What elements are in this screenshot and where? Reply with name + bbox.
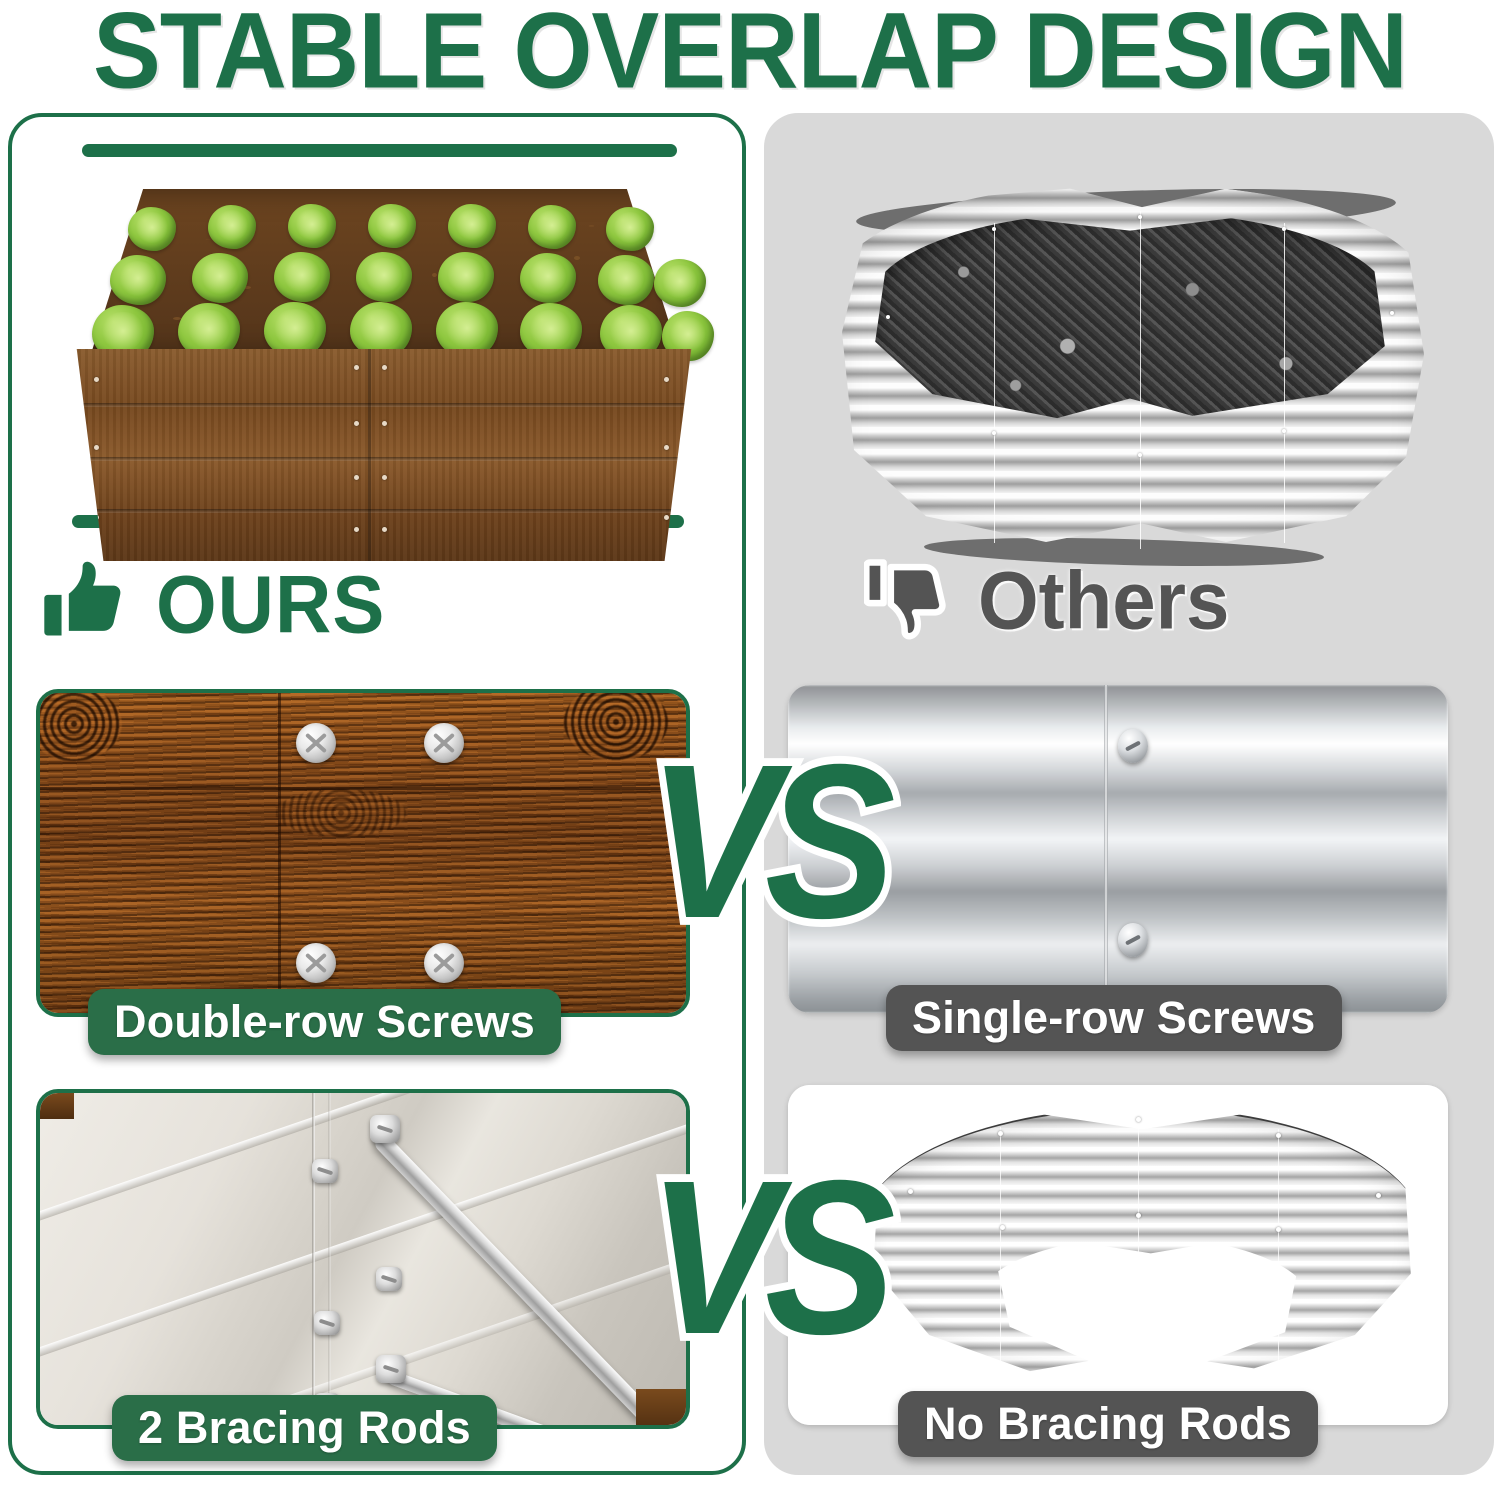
lettuce-plant xyxy=(356,252,412,302)
panel-seam xyxy=(1140,211,1141,549)
versus-badge-rods: VS xyxy=(648,1148,881,1368)
lettuce-plant xyxy=(448,204,496,248)
lettuce-plant xyxy=(208,205,256,249)
bracing-bolt xyxy=(370,1115,400,1143)
rivet xyxy=(1136,1213,1141,1218)
rivet xyxy=(1136,1117,1141,1122)
ours-brand-row: OURS xyxy=(42,555,385,652)
double-row-screws-badge: Double-row Screws xyxy=(88,989,561,1055)
rivet xyxy=(1138,215,1142,219)
bracing-bolt xyxy=(314,1311,340,1335)
screw-head xyxy=(1118,729,1148,763)
screw-head xyxy=(296,723,336,763)
others-label: Others xyxy=(978,559,1229,641)
single-row-screws-card xyxy=(788,685,1448,1013)
galvanized-metal-texture xyxy=(788,685,1448,1013)
panel-seam xyxy=(1278,1129,1279,1377)
panel-vertical-seam xyxy=(312,1093,315,1429)
lettuce-plant xyxy=(128,207,176,251)
board-seam-vertical xyxy=(278,693,281,1013)
bracing-rods-badge: 2 Bracing Rods xyxy=(112,1395,497,1461)
lettuce-plant xyxy=(598,255,654,305)
panel-seam xyxy=(1000,1127,1001,1377)
lettuce-plant xyxy=(438,252,494,302)
rivet xyxy=(886,315,890,319)
ours-hero-image xyxy=(38,175,728,575)
wood-edge xyxy=(636,1389,690,1429)
double-row-screws-card xyxy=(36,689,690,1017)
board-seam-horizontal xyxy=(40,787,686,790)
wood-edge xyxy=(40,1093,74,1119)
panel-seam xyxy=(994,223,995,543)
rivet xyxy=(1276,1133,1281,1138)
thumbs-down-icon xyxy=(864,551,956,648)
lettuce-plant xyxy=(192,253,248,303)
raised-garden-bed xyxy=(50,189,718,561)
rivet xyxy=(908,1189,913,1194)
ours-label: OURS xyxy=(156,563,385,645)
bed-wall-wood xyxy=(50,349,718,561)
empty-ring-background xyxy=(788,1085,1448,1425)
metal-vertical-seam xyxy=(1104,685,1108,1013)
page-title: STABLE OVERLAP DESIGN xyxy=(0,0,1500,113)
rivet xyxy=(998,1131,1003,1136)
ours-panel: OURS Double-row Screws xyxy=(8,113,746,1475)
panel-vertical-seam xyxy=(328,1093,331,1429)
lettuce-plant xyxy=(368,204,416,248)
thumbs-up-icon xyxy=(42,555,134,652)
screw-head xyxy=(424,943,464,983)
rivet xyxy=(992,227,996,231)
lettuce-plant xyxy=(274,252,330,302)
board-seam-horizontal xyxy=(40,917,686,919)
rivet xyxy=(1000,1225,1005,1230)
panel-seam xyxy=(1138,1115,1139,1383)
panel-seam xyxy=(1284,223,1285,543)
soil-fill xyxy=(870,211,1390,429)
lettuce-plant xyxy=(654,259,706,307)
lettuce-plant xyxy=(110,255,166,305)
infographic-root: STABLE OVERLAP DESIGN xyxy=(0,0,1500,1494)
others-hero-image xyxy=(794,165,1466,583)
screw-head xyxy=(424,723,464,763)
divider-bar-top xyxy=(82,144,677,157)
rivet xyxy=(1282,429,1286,433)
bracing-rods-card xyxy=(36,1089,690,1429)
screw-head xyxy=(296,943,336,983)
lettuce-plant xyxy=(606,207,654,251)
rivet xyxy=(1376,1193,1381,1198)
rivet xyxy=(1276,1227,1281,1232)
rivet xyxy=(1390,311,1394,315)
others-brand-row: Others xyxy=(864,551,1229,648)
no-bracing-rods-card xyxy=(788,1085,1448,1425)
rivet xyxy=(1138,453,1142,457)
lettuce-plant xyxy=(520,253,576,303)
lettuce-plant xyxy=(528,205,576,249)
bracing-bolt xyxy=(376,1355,406,1383)
lettuce-plant xyxy=(288,204,336,248)
versus-badge-screws: VS xyxy=(648,732,881,952)
bracing-bolt xyxy=(312,1159,338,1183)
rivet xyxy=(992,431,996,435)
rivet xyxy=(1282,227,1286,231)
bracing-bolt xyxy=(376,1267,402,1291)
no-bracing-rods-badge: No Bracing Rods xyxy=(898,1391,1318,1457)
single-row-screws-badge: Single-row Screws xyxy=(886,985,1342,1051)
screw-head xyxy=(1118,923,1148,957)
wood-knot xyxy=(276,789,406,837)
